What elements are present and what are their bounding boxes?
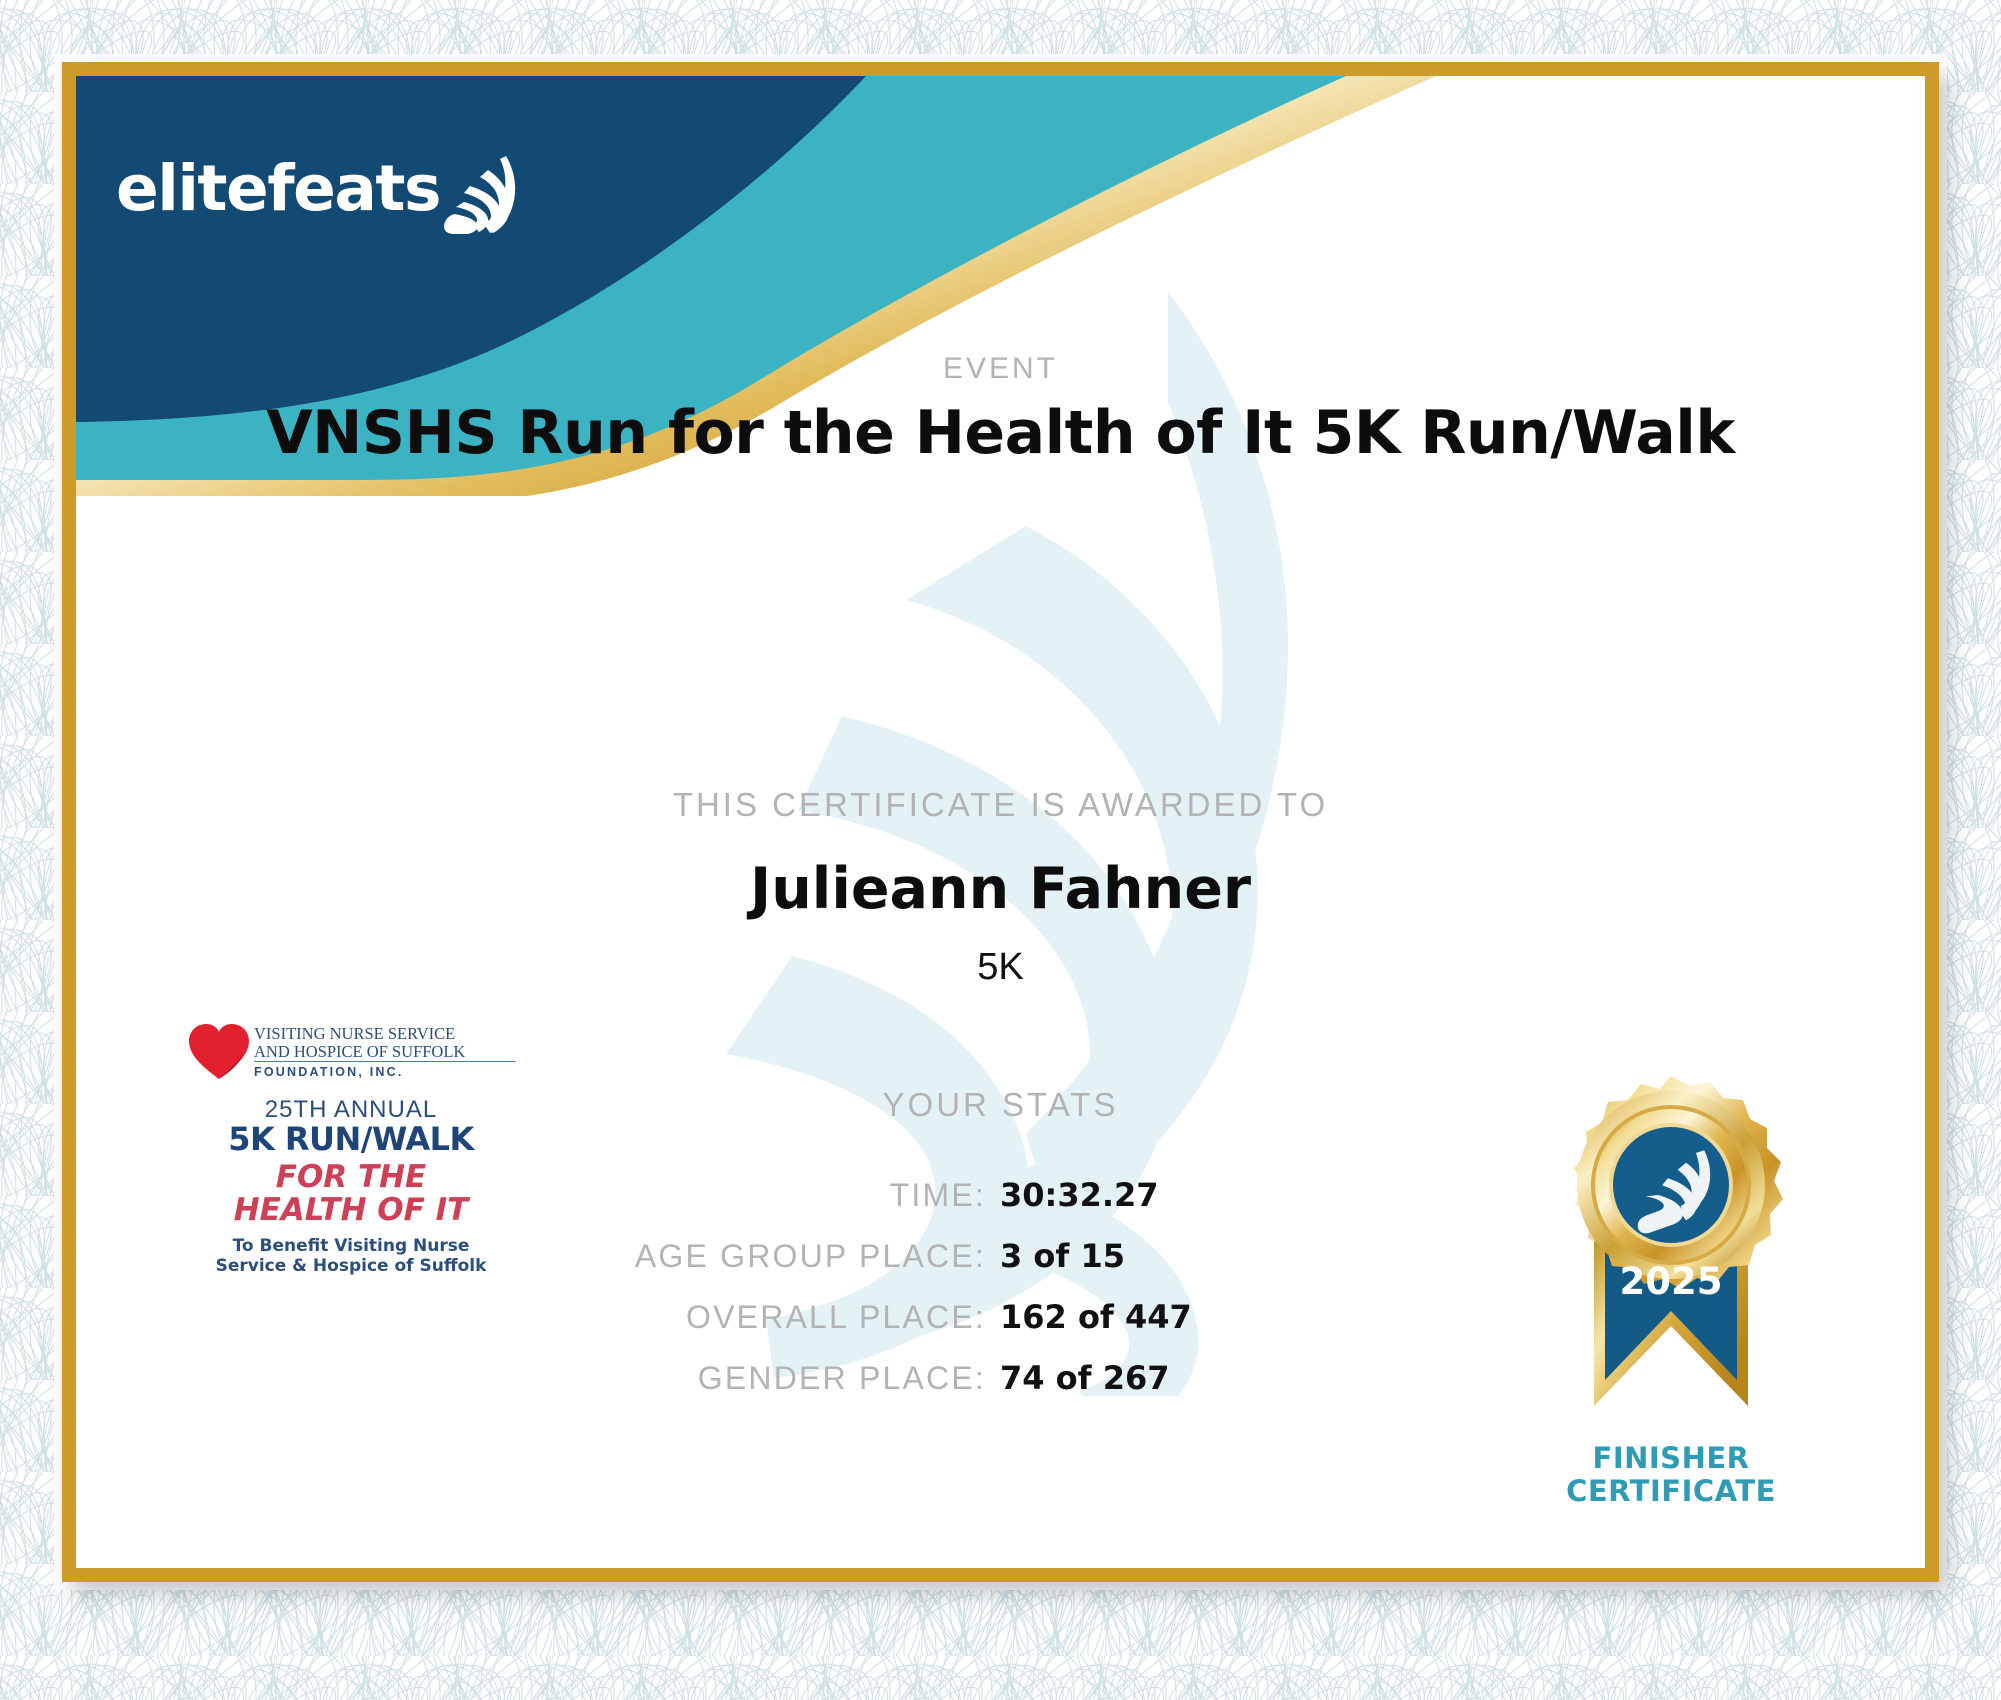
sponsor-for-the: FOR THE (186, 1161, 516, 1194)
event-distance: 5K (76, 946, 1925, 989)
sponsor-benefit-line2: Service & Hospice of Suffolk (186, 1256, 516, 1277)
awarded-to-label: THIS CERTIFICATE IS AWARDED TO (76, 786, 1925, 824)
winged-foot-icon (442, 154, 524, 234)
stat-key: GENDER PLACE: (301, 1360, 986, 1397)
medal-graphic: 2025 (1476, 1076, 1866, 1466)
recipient-name: Julieann Fahner (76, 856, 1925, 922)
stat-key: OVERALL PLACE: (301, 1299, 986, 1336)
sponsor-org-text: VISITING NURSE SERVICE AND HOSPICE OF SU… (252, 1025, 516, 1080)
sponsor-health-of-it: HEALTH OF IT (186, 1194, 516, 1227)
certificate-frame: elitefeats EVENT VNSHS Run for the Healt… (62, 62, 1939, 1582)
sponsor-run-walk: 5K RUN/WALK (186, 1123, 516, 1157)
sponsor-org-line3: FOUNDATION, INC. (254, 1065, 516, 1079)
brand-wordmark: elitefeats (116, 157, 440, 220)
elitefeats-logo: elitefeats (116, 154, 524, 220)
sponsor-benefit-line1: To Benefit Visiting Nurse (186, 1236, 516, 1257)
event-title: VNSHS Run for the Health of It 5K Run/Wa… (76, 398, 1925, 468)
event-label: EVENT (76, 352, 1925, 386)
sponsor-annual: 25TH ANNUAL (186, 1097, 516, 1122)
finisher-medal-badge: 2025 FINISHER CERTIFICATE (1476, 1076, 1866, 1508)
certificate-content: EVENT VNSHS Run for the Health of It 5K … (76, 76, 1925, 1568)
sponsor-logo: VISITING NURSE SERVICE AND HOSPICE OF SU… (186, 1021, 516, 1277)
sponsor-org-line1: VISITING NURSE SERVICE (254, 1025, 516, 1043)
heart-icon (186, 1021, 252, 1083)
sponsor-org-line2: AND HOSPICE OF SUFFOLK (254, 1043, 516, 1063)
certificate-body: elitefeats EVENT VNSHS Run for the Healt… (76, 76, 1925, 1568)
medal-year-text: 2025 (1620, 1260, 1723, 1303)
finisher-caption-line2: CERTIFICATE (1476, 1475, 1866, 1508)
sponsor-org-lockup: VISITING NURSE SERVICE AND HOSPICE OF SU… (186, 1021, 516, 1083)
sponsor-benefit: To Benefit Visiting Nurse Service & Hosp… (186, 1236, 516, 1277)
